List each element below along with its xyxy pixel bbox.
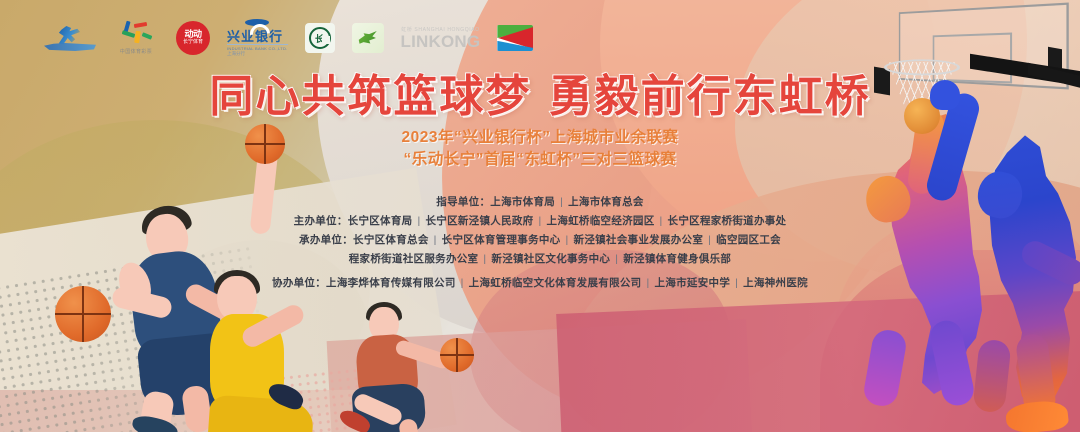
- basketball-center: [440, 338, 474, 372]
- changning-sports-logo-t2: 长宁体育: [183, 39, 203, 46]
- industrial-bank-mark-icon: [245, 19, 269, 26]
- organizer-name: 新泾镇社会事业发展办公室: [574, 234, 704, 246]
- organizer-separator: |: [730, 277, 743, 289]
- lottery-logo-caption: 中国体育彩票: [120, 48, 152, 55]
- linkong-logo: 虹桥 SHANGHAI HONGQIAO LINKONG: [401, 23, 481, 53]
- organizer-separator: |: [429, 234, 442, 246]
- basketball-left: [55, 286, 111, 342]
- organizer-separator: |: [478, 253, 491, 265]
- chengjiaqiao-flag-logo: [497, 19, 533, 57]
- industrial-bank-branch: 上海分行: [227, 51, 288, 57]
- flag-mark-icon: [497, 25, 533, 51]
- organizer-separator: |: [703, 234, 716, 246]
- organizer-separator: |: [555, 196, 568, 208]
- basketball-shot: [245, 124, 285, 164]
- organizer-separator: |: [610, 253, 623, 265]
- sponsor-logo-strip: 中国体育彩票 动动 长宁体育 兴业银行 INDUSTRIAL BANK CO.,…: [44, 18, 533, 58]
- organizer-separator: |: [655, 215, 668, 227]
- silhouette-player-blocking: [962, 118, 1080, 408]
- changning-sports-mark-icon: 动动 长宁体育: [176, 21, 210, 55]
- changning-green-mark-icon: 长: [305, 23, 335, 53]
- league-mark-icon: [44, 25, 96, 51]
- organizer-name: 长宁区程家桥街道办事处: [668, 215, 787, 227]
- organizer-separator: |: [533, 215, 546, 227]
- industrial-bank-name-en: INDUSTRIAL BANK CO.,LTD.: [227, 44, 288, 51]
- organizer-name: 临空园区工会: [716, 234, 781, 246]
- lottery-mark-icon: [113, 21, 159, 47]
- organizer-row-label: 指导单位：: [436, 196, 490, 208]
- linkong-logo-wordmark: LINKONG: [401, 33, 481, 50]
- organizer-name: 长宁区体育管理事务中心: [442, 234, 561, 246]
- industrial-bank-logo: 兴业银行 INDUSTRIAL BANK CO.,LTD. 上海分行: [227, 19, 288, 57]
- changning-green-logo-char: 长: [315, 32, 324, 45]
- organizer-separator: |: [560, 234, 573, 246]
- organizer-separator: |: [641, 277, 654, 289]
- organizer-name: 上海虹桥临空经济园区: [547, 215, 655, 227]
- event-poster: 中国体育彩票 动动 长宁体育 兴业银行 INDUSTRIAL BANK CO.,…: [0, 0, 1080, 432]
- organizer-name: 新泾镇体育健身俱乐部: [623, 253, 731, 265]
- china-sports-lottery-logo: 中国体育彩票: [113, 19, 159, 57]
- shanghai-city-amateur-league-logo: [44, 19, 96, 57]
- organizer-name: 长宁区新泾镇人民政府: [425, 215, 533, 227]
- organizer-name: 上海市体育局: [490, 196, 555, 208]
- organizer-name: 上海神州医院: [743, 277, 808, 289]
- changning-sports-logo-t1: 动动: [184, 30, 201, 39]
- changning-sports-red-logo: 动动 长宁体育: [176, 19, 210, 57]
- organizer-name: 新泾镇社区文化事务中心: [491, 253, 610, 265]
- organizer-name: 上海市延安中学: [655, 277, 731, 289]
- organizer-separator: |: [412, 215, 425, 227]
- changning-green-circle-logo: 长: [305, 19, 335, 57]
- xinjing-swan-logo: [352, 19, 384, 57]
- organizer-name: 上海市体育总会: [568, 196, 644, 208]
- swan-mark-icon: [352, 23, 384, 53]
